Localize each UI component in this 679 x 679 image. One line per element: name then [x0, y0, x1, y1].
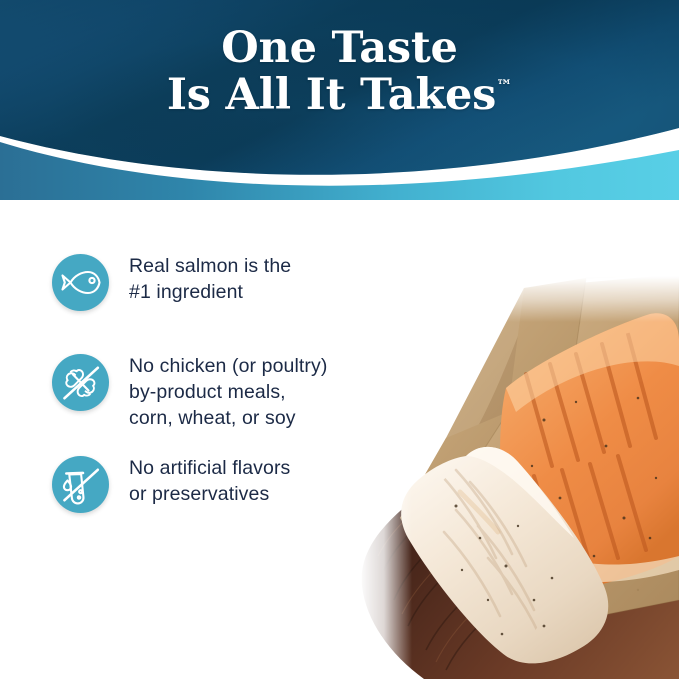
no-bone-icon	[52, 354, 109, 411]
feature-list: Real salmon is the #1 ingredient No chic…	[52, 252, 382, 513]
feature-text-no-artificial: No artificial flavors or preservatives	[129, 454, 290, 508]
fish-icon	[52, 254, 109, 311]
feature-line: or preservatives	[129, 482, 290, 508]
feature-text-no-chicken: No chicken (or poultry) by-product meals…	[129, 352, 327, 432]
food-photo-illustration	[338, 270, 679, 679]
no-test-tube-icon	[52, 456, 109, 513]
header-background-shape	[0, 0, 679, 200]
feature-line: No chicken (or poultry)	[129, 354, 327, 380]
feature-line: Real salmon is the	[129, 254, 291, 280]
feature-item-no-artificial: No artificial flavors or preservatives	[52, 454, 382, 513]
feature-line: corn, wheat, or soy	[129, 406, 327, 432]
food-photograph	[338, 270, 679, 679]
feature-line: by-product meals,	[129, 380, 327, 406]
product-marketing-card: One Taste Is All It Takes™	[0, 0, 679, 679]
header-banner: One Taste Is All It Takes™	[0, 0, 679, 200]
feature-text-real-salmon: Real salmon is the #1 ingredient	[129, 252, 291, 306]
feature-item-no-chicken: No chicken (or poultry) by-product meals…	[52, 352, 382, 432]
feature-item-real-salmon: Real salmon is the #1 ingredient	[52, 252, 382, 311]
feature-line: #1 ingredient	[129, 280, 291, 306]
banner-vignette	[0, 0, 679, 175]
feature-line: No artificial flavors	[129, 456, 290, 482]
